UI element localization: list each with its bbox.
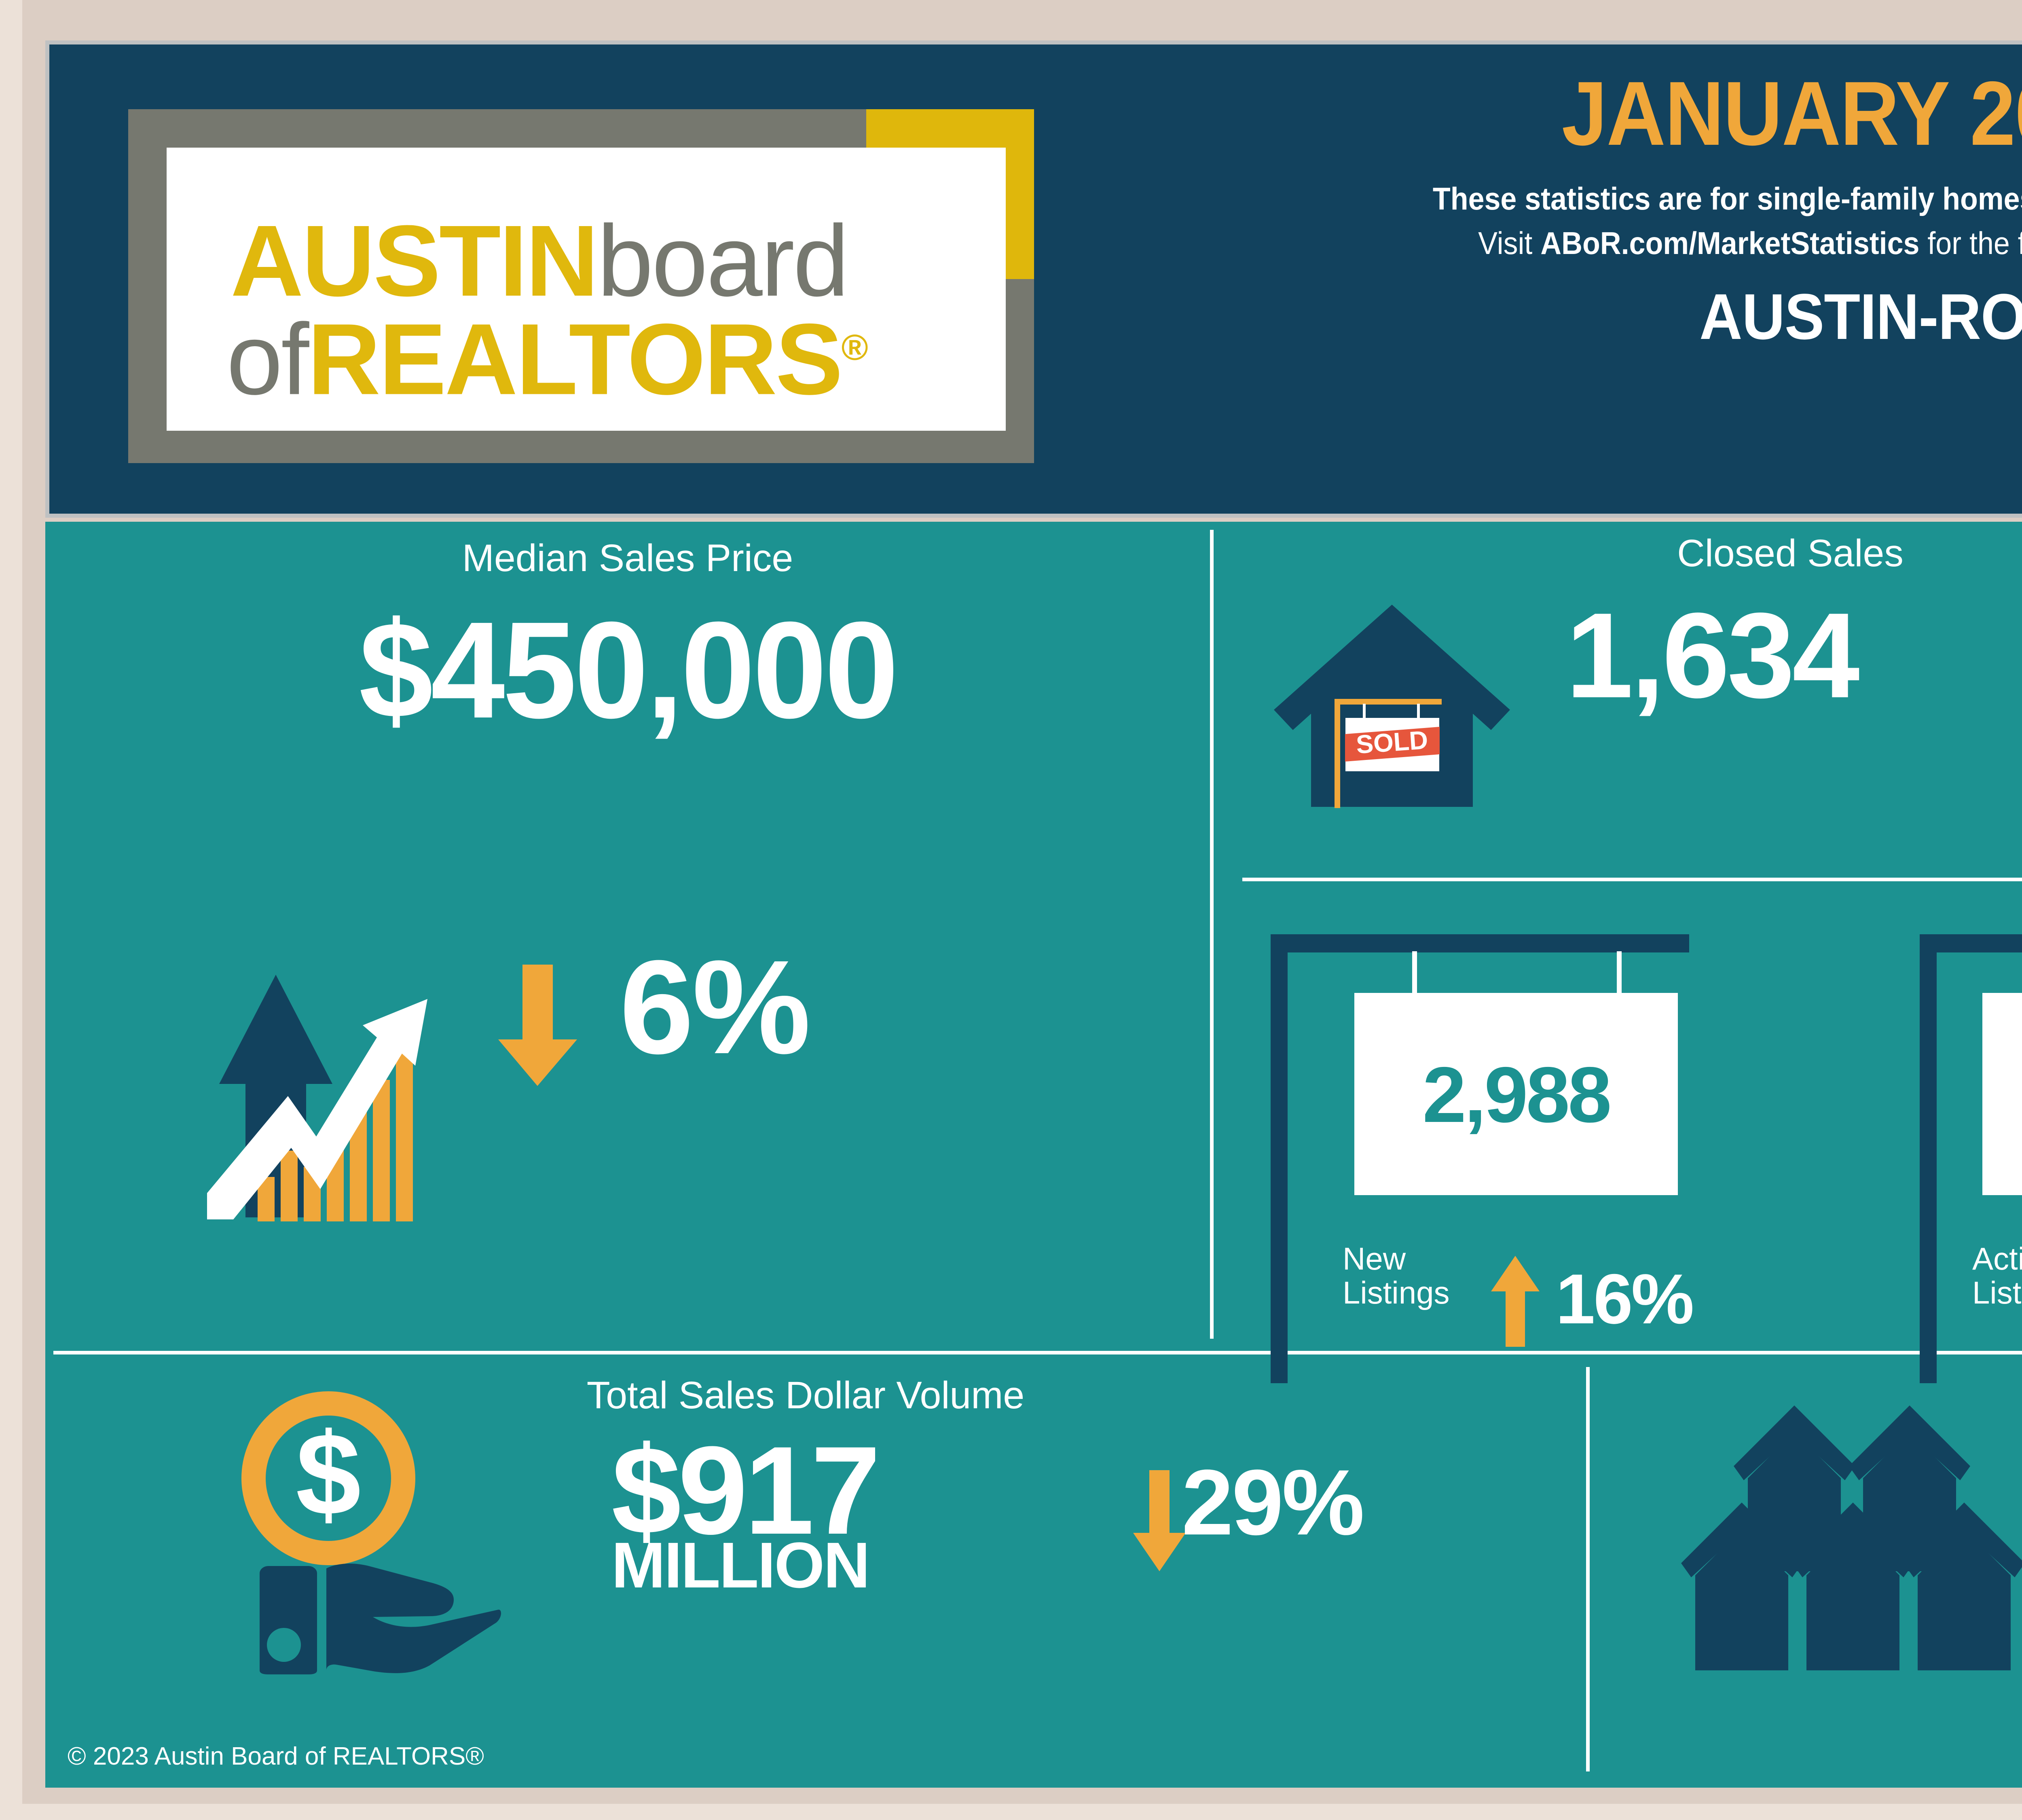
- closed-sales-label: Closed Sales: [1242, 533, 2022, 574]
- new-listings-block: 2,988 New Listings 16%: [1271, 934, 1877, 1383]
- logo-line-one: AUSTINboard: [231, 210, 848, 311]
- hand-with-coin-icon: $: [163, 1391, 502, 1674]
- market-statistics-link[interactable]: ABoR.com/MarketStatistics: [1540, 225, 1919, 261]
- sign-string-left: [1412, 951, 1417, 1000]
- sign-post-vertical: [1271, 934, 1288, 1383]
- new-listings-change: 16%: [1556, 1264, 1692, 1335]
- divider-vertical-left: [1210, 530, 1214, 1339]
- logo-line-two: ofREALTORS®: [226, 297, 867, 410]
- registered-trademark-icon: ®: [841, 328, 866, 368]
- total-sales-dollar-volume-change: 29%: [1182, 1456, 1363, 1549]
- hanging-sign-icon: 2,988: [1354, 993, 1678, 1195]
- logo-of-text: of: [226, 303, 308, 415]
- new-listings-label-line2: Listings: [1343, 1276, 1449, 1310]
- house-sold-sign-icon: SOLD: [1271, 601, 1513, 839]
- median-price-down-arrow-icon: [498, 965, 577, 1086]
- header-subtitle-two: Visit ABoR.com/MarketStatistics for the …: [1165, 226, 2022, 260]
- active-listings-label-line2: Listings: [1972, 1276, 2022, 1310]
- header-subtitle-one: These statistics are for single-family h…: [1165, 182, 2022, 215]
- active-listings-block: 7,323 Active Listings 462%: [1920, 934, 2022, 1383]
- stats-body: Median Sales Price $450,000: [45, 522, 2022, 1788]
- region-title: AUSTIN-ROUND ROCK MSA: [1165, 283, 2022, 350]
- header-banner: AUSTINboard ofREALTORS® JANUARY 2023 STA…: [49, 44, 2022, 514]
- houses-group-icon: [1671, 1401, 2022, 1680]
- closed-sales-value: 1,634: [1566, 595, 1857, 716]
- press-release-text: for the full press release and other are…: [1919, 225, 2022, 261]
- infographic-page: AUSTINboard ofREALTORS® JANUARY 2023 STA…: [0, 0, 2022, 1820]
- new-listings-label: New Listings: [1343, 1242, 1449, 1310]
- new-listings-up-arrow-icon: [1491, 1256, 1540, 1347]
- logo-realtors-text: REALTORS: [308, 303, 842, 415]
- new-listings-label-line1: New: [1343, 1242, 1449, 1276]
- active-listings-label-line1: Active: [1972, 1242, 2022, 1276]
- page-title: JANUARY 2023 STATISTICS: [1186, 67, 2022, 160]
- header-frame: AUSTINboard ofREALTORS® JANUARY 2023 STA…: [45, 40, 2022, 518]
- header-text-block: JANUARY 2023 STATISTICS These statistics…: [1085, 44, 2022, 514]
- active-listings-label: Active Listings: [1972, 1242, 2022, 1310]
- divider-vertical-bottom: [1586, 1367, 1590, 1771]
- visit-text: Visit: [1478, 225, 1540, 261]
- median-sales-price-change: 6%: [620, 940, 809, 1074]
- hanging-sign-icon: 7,323: [1982, 993, 2022, 1195]
- median-sales-price-value: $450,000: [63, 601, 1193, 740]
- divider-horizontal-mid: [1242, 878, 2022, 881]
- sign-string-right: [1617, 951, 1622, 1000]
- sign-post-horizontal: [1920, 934, 2022, 952]
- abor-logo[interactable]: AUSTINboard ofREALTORS®: [128, 109, 1034, 463]
- sign-post-horizontal: [1271, 934, 1689, 952]
- logo-white-panel: AUSTINboard ofREALTORS®: [167, 148, 1006, 431]
- copyright-text: © 2023 Austin Board of REALTORS®: [68, 1743, 484, 1770]
- total-sales-down-arrow-icon: [1133, 1470, 1186, 1571]
- total-sales-dollar-volume-unit: MILLION: [611, 1533, 869, 1598]
- svg-text:SOLD: SOLD: [1355, 725, 1429, 759]
- svg-text:$: $: [296, 1409, 361, 1540]
- new-listings-value: 2,988: [1354, 1056, 1678, 1134]
- median-sales-price-label: Median Sales Price: [45, 538, 1210, 578]
- sign-post-vertical: [1920, 934, 1937, 1383]
- active-listings-value: 7,323: [1982, 1056, 2022, 1134]
